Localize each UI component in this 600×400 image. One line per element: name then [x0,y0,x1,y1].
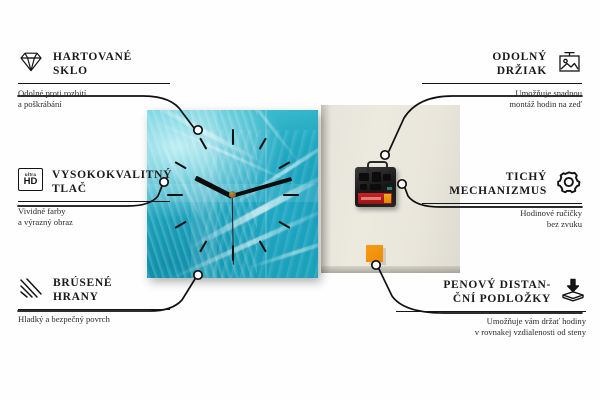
feature-hardened-glass: HARTOVANÉ SKLO Odolné proti rozbití a po… [18,50,170,110]
ultra-hd-icon: ultra HD [18,168,43,191]
sanded-edges-icon [18,276,44,300]
gear-icon [556,170,582,194]
feature-subtitle: Hladký a bezpečný povrch [18,314,170,325]
feature-header: BRÚSENÉ HRANY [18,276,170,304]
divider [396,311,586,312]
divider [422,203,582,204]
feature-subtitle: Odolné proti rozbití a poškrábání [18,88,170,110]
feature-subtitle: Vividné farby a výrazný obraz [18,206,170,228]
feature-title: BRÚSENÉ HRANY [53,276,112,304]
node-foam-spacers [372,261,380,269]
feature-title: HARTOVANÉ SKLO [53,50,132,78]
divider [18,83,170,84]
feature-foam-spacers: PENOVÝ DISTAN- ČNÍ PODLOŽKY Umožňuje vám… [396,278,586,338]
node-silent-mechanism [398,180,406,188]
infographic-canvas: HARTOVANÉ SKLO Odolné proti rozbití a po… [0,0,600,400]
feature-header: ultra HD VYSOKOKVALITNÝ TLAČ [18,168,170,196]
feature-subtitle: Hodinové ručičky bez zvuku [422,208,582,230]
feature-hd-print: ultra HD VYSOKOKVALITNÝ TLAČ Vividné far… [18,168,170,228]
feature-header: PENOVÝ DISTAN- ČNÍ PODLOŽKY [396,278,586,306]
feature-subtitle: Umožňuje vám držať hodiny v rovnakej vzd… [396,316,586,338]
foam-spacer-icon [560,278,586,302]
node-sanded-edges [194,271,202,279]
feature-durable-hanger: ODOLNÝ DRŽIAK Umožňuje snadnou montáž ho… [422,50,582,110]
feature-header: ODOLNÝ DRŽIAK [422,50,582,78]
feature-title: ODOLNÝ DRŽIAK [492,50,547,78]
feature-title: TICHÝ MECHANIZMUS [449,170,547,198]
feature-silent-mechanism: TICHÝ MECHANIZMUS Hodinové ručičky bez z… [422,170,582,230]
feature-sanded-edges: BRÚSENÉ HRANY Hladký a bezpečný povrch [18,276,170,325]
feature-subtitle: Umožňuje snadnou montáž hodin na zeď [422,88,582,110]
feature-title: VYSOKOKVALITNÝ TLAČ [52,168,172,196]
ultra-hd-icon-main-label: HD [24,177,38,187]
node-durable-hanger [381,151,389,159]
diamond-icon [18,50,44,74]
divider [18,201,170,202]
divider [18,309,170,310]
feature-title: PENOVÝ DISTAN- ČNÍ PODLOŽKY [443,278,551,306]
divider [422,83,582,84]
picture-frame-icon [556,50,582,74]
feature-header: TICHÝ MECHANIZMUS [422,170,582,198]
feature-header: HARTOVANÉ SKLO [18,50,170,78]
node-hardened-glass [194,126,202,134]
